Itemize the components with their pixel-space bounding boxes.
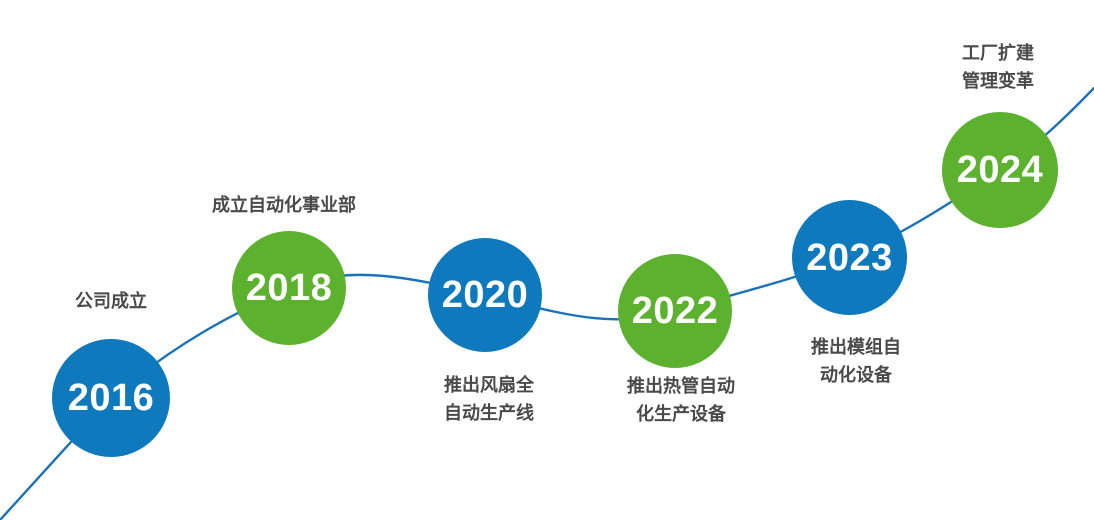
milestone-label-line: 成立自动化事业部 bbox=[212, 192, 356, 220]
milestone-year-2023: 2023 bbox=[806, 239, 893, 277]
milestone-label-2023: 推出模组自 动化设备 bbox=[811, 334, 901, 390]
milestone-label-2016: 公司成立 bbox=[75, 288, 147, 316]
milestone-year-2022: 2022 bbox=[632, 292, 719, 330]
milestone-label-2020: 推出风扇全 自动生产线 bbox=[444, 372, 534, 428]
milestone-label-2018: 成立自动化事业部 bbox=[212, 192, 356, 220]
timeline-curve-path bbox=[0, 88, 1094, 520]
milestone-circle-2016[interactable]: 2016 bbox=[52, 339, 170, 457]
milestone-label-2022: 推出热管自动 化生产设备 bbox=[627, 373, 735, 429]
milestone-circle-2023[interactable]: 2023 bbox=[792, 200, 907, 315]
milestone-label-line: 推出模组自 bbox=[811, 334, 901, 362]
timeline-diagram: 公司成立 2016 成立自动化事业部 2018 2020 推出风扇全 自动生产线… bbox=[0, 0, 1094, 520]
milestone-year-2016: 2016 bbox=[68, 379, 155, 417]
milestone-label-line: 工厂扩建 bbox=[962, 40, 1034, 68]
milestone-year-2018: 2018 bbox=[246, 269, 333, 307]
milestone-label-line: 动化设备 bbox=[811, 362, 901, 390]
milestone-label-line: 化生产设备 bbox=[627, 401, 735, 429]
milestone-circle-2020[interactable]: 2020 bbox=[428, 238, 542, 352]
milestone-circle-2024[interactable]: 2024 bbox=[942, 112, 1058, 228]
milestone-label-line: 推出热管自动 bbox=[627, 373, 735, 401]
milestone-label-line: 推出风扇全 bbox=[444, 372, 534, 400]
milestone-label-2024: 工厂扩建 管理变革 bbox=[962, 40, 1034, 96]
milestone-label-line: 管理变革 bbox=[962, 68, 1034, 96]
milestone-year-2020: 2020 bbox=[442, 276, 529, 314]
milestone-label-line: 自动生产线 bbox=[444, 400, 534, 428]
milestone-circle-2022[interactable]: 2022 bbox=[618, 254, 732, 368]
milestone-label-line: 公司成立 bbox=[75, 288, 147, 316]
timeline-connector-line bbox=[0, 0, 1094, 520]
milestone-year-2024: 2024 bbox=[957, 151, 1044, 189]
milestone-circle-2018[interactable]: 2018 bbox=[232, 231, 346, 345]
